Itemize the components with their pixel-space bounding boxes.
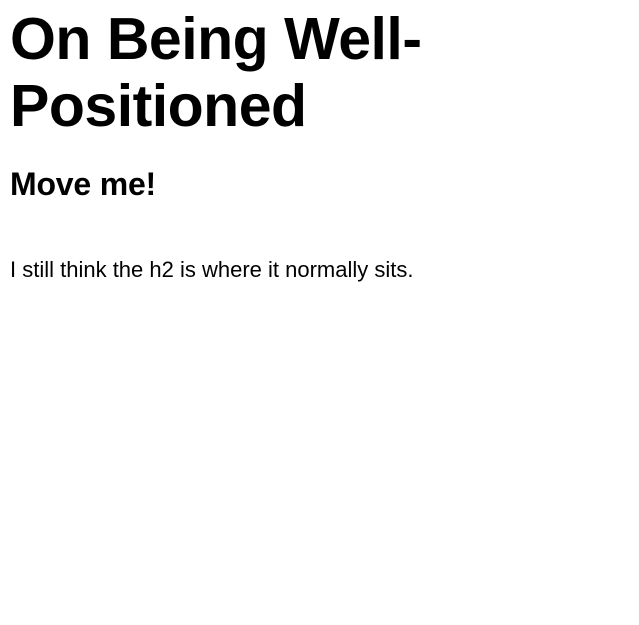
page-root: On Being Well-Positioned Move me! I stil… — [0, 0, 639, 625]
section-heading-move-me: Move me! — [10, 139, 629, 202]
page-title: On Being Well-Positioned — [10, 0, 430, 139]
body-paragraph: I still think the h2 is where it normall… — [10, 203, 629, 285]
